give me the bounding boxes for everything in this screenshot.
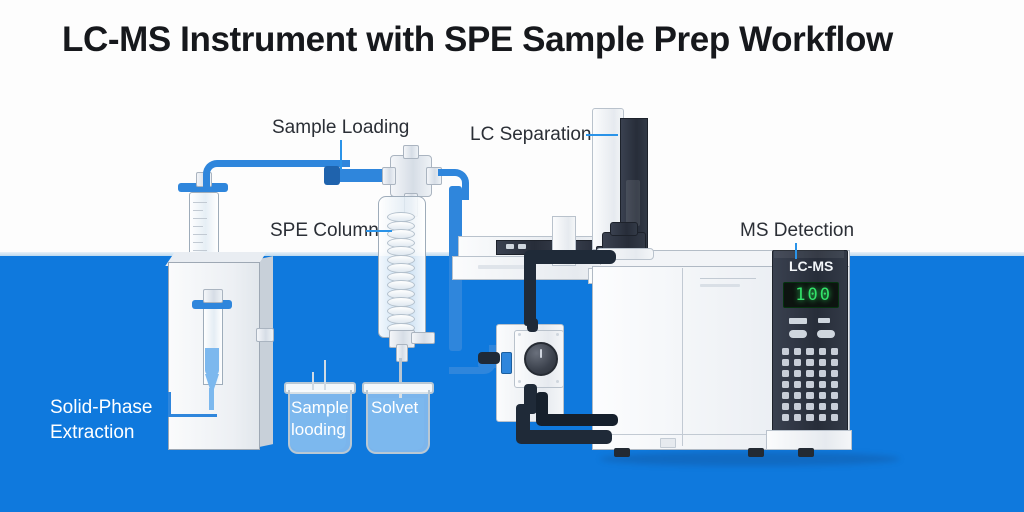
diagram-canvas: LC-MS Instrument with SPE Sample Prep Wo…: [0, 0, 1024, 512]
label-ms-detection: MS Detection: [740, 220, 854, 242]
page-title: LC-MS Instrument with SPE Sample Prep Wo…: [62, 20, 982, 60]
leader-ms-detection: [795, 243, 797, 259]
pump-knob-icon[interactable]: [524, 342, 558, 376]
leader-lc-separation: [586, 134, 618, 136]
keypad-icon[interactable]: [782, 348, 838, 421]
label-sample-loading: Sample Loading: [272, 117, 409, 139]
label-lc-separation: LC Separation: [470, 124, 591, 146]
brand-label: LC-MS: [789, 258, 833, 274]
leader-spe-column: [366, 230, 392, 232]
label-spe-column: SPE Column: [270, 220, 379, 242]
beaker-label-sample: Sample looding: [291, 397, 349, 442]
pump-switch[interactable]: [501, 352, 512, 374]
beaker-label-solvent: Solvet: [371, 397, 418, 419]
status-display: 100: [783, 282, 839, 308]
leader-sample-loading: [340, 140, 342, 170]
label-solid-phase-extraction: Solid-Phase Extraction: [50, 395, 152, 445]
